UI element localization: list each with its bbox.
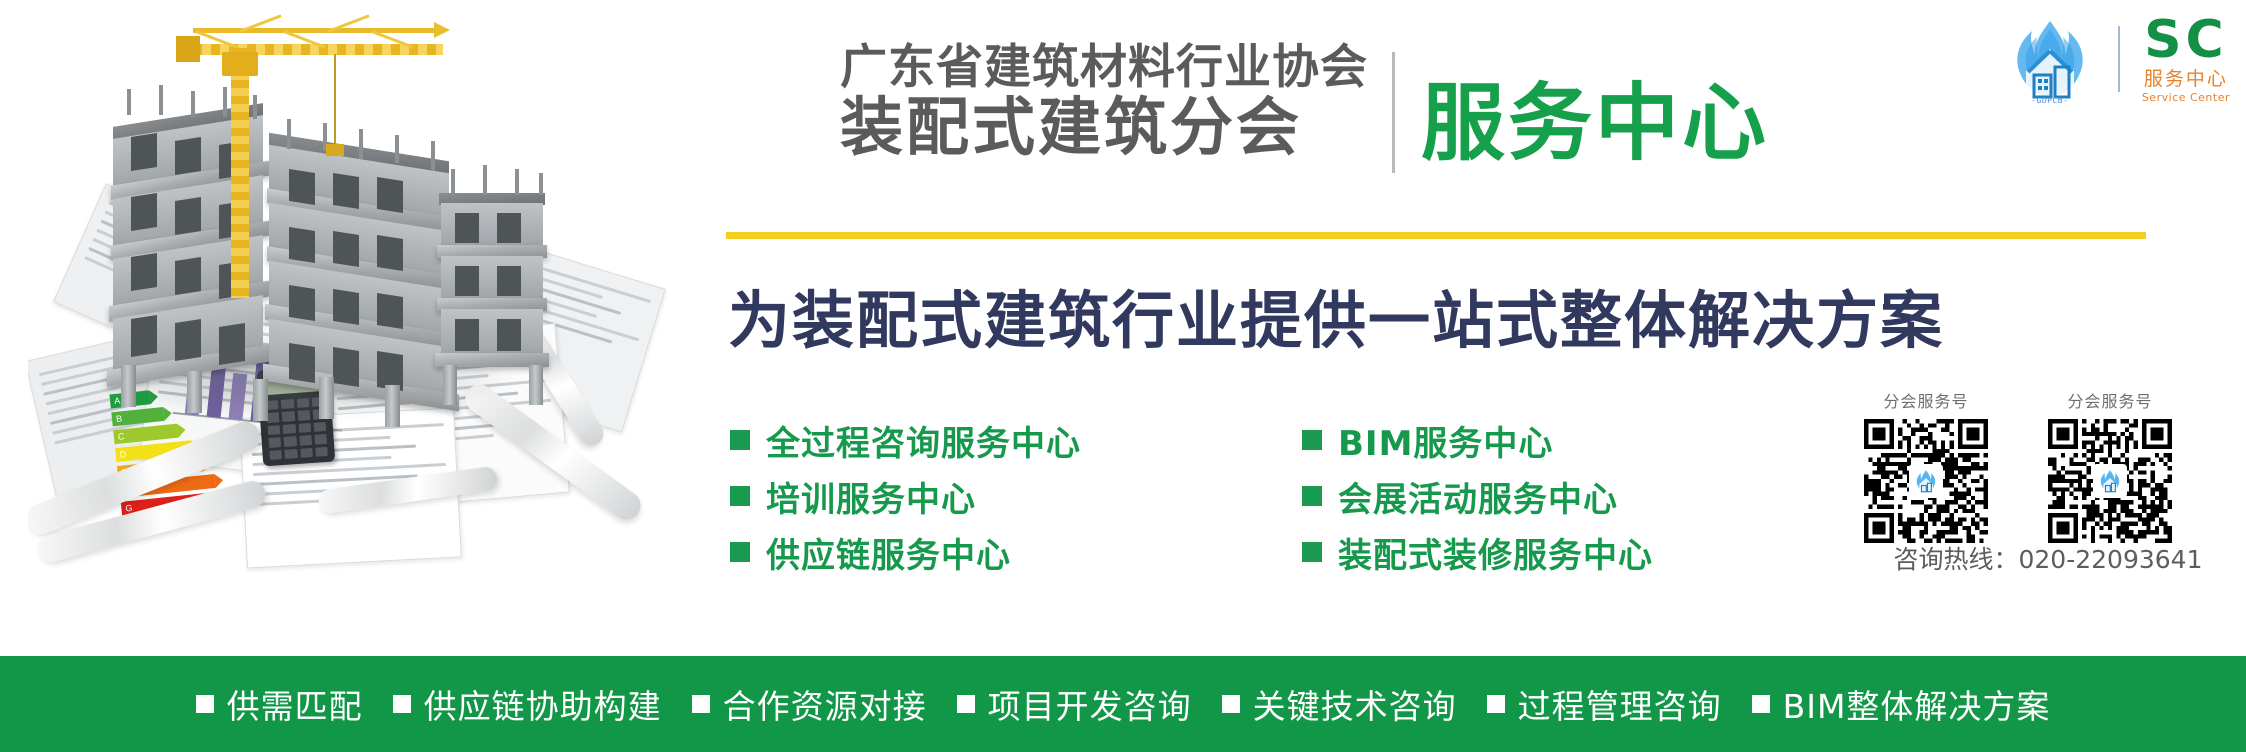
footer-item[interactable]: 供需匹配 — [196, 680, 363, 728]
square-bullet-icon — [730, 486, 750, 506]
qr-code-cell[interactable]: 分会服务号 — [2037, 388, 2183, 543]
flame-house-logo-svg — [1913, 468, 1939, 494]
qr-label: 分会服务号 — [1853, 388, 1999, 412]
square-bullet-icon — [1487, 695, 1505, 713]
footer-label: 供应链协助构建 — [424, 680, 662, 728]
service-list-left: 全过程咨询服务中心 培训服务中心 供应链服务中心 — [730, 412, 1081, 580]
flame-house-logo-svg — [2097, 468, 2123, 494]
organization-name: 广东省建筑材料行业协会 装配式建筑分会 — [840, 44, 1368, 159]
square-bullet-icon — [1302, 542, 1322, 562]
flame-house-logo-svg — [2004, 15, 2096, 103]
logo-abbr: SC — [2144, 14, 2228, 66]
square-bullet-icon — [1222, 695, 1240, 713]
square-bullet-icon — [1752, 695, 1770, 713]
logo-cn-name: 服务中心 — [2144, 70, 2228, 89]
org-line-2: 装配式建筑分会 — [840, 96, 1368, 159]
footer-label: BIM整体解决方案 — [1783, 680, 2051, 728]
org-line-1: 广东省建筑材料行业协会 — [840, 44, 1368, 91]
footer-label: 项目开发咨询 — [988, 680, 1192, 728]
service-list-item[interactable]: 供应链服务中心 — [730, 524, 1081, 580]
footer-item[interactable]: 合作资源对接 — [692, 680, 927, 728]
service-list-item[interactable]: BIM服务中心 — [1302, 412, 1653, 468]
logo-divider — [2118, 26, 2120, 92]
qr-code-cell[interactable]: 分会服务号 — [1853, 388, 1999, 543]
footer-label: 过程管理咨询 — [1518, 680, 1722, 728]
footer-label: 供需匹配 — [227, 680, 363, 728]
footer-items: 供需匹配 供应链协助构建 合作资源对接 项目开发咨询 关键技术咨询 过程管理咨询 — [196, 680, 2051, 728]
page-subtitle: 为装配式建筑行业提供一站式整体解决方案 — [728, 270, 1944, 360]
service-label: 供应链服务中心 — [766, 528, 1011, 577]
square-bullet-icon — [692, 695, 710, 713]
hotline-text: 咨询热线：020-22093641 — [1853, 540, 2243, 576]
square-bullet-icon — [730, 430, 750, 450]
square-bullet-icon — [393, 695, 411, 713]
footer-bar: 供需匹配 供应链协助构建 合作资源对接 项目开发咨询 关键技术咨询 过程管理咨询 — [0, 656, 2246, 752]
service-label: 培训服务中心 — [766, 472, 976, 521]
footer-label: 合作资源对接 — [723, 680, 927, 728]
service-label: 装配式装修服务中心 — [1338, 528, 1653, 577]
qr-code-icon[interactable] — [1864, 419, 1988, 543]
footer-item[interactable]: 供应链协助构建 — [393, 680, 662, 728]
square-bullet-icon — [730, 542, 750, 562]
hero-image: A B C D E F G — [28, 8, 668, 628]
banner-root: A B C D E F G — [0, 0, 2246, 752]
footer-item[interactable]: BIM整体解决方案 — [1752, 680, 2051, 728]
square-bullet-icon — [957, 695, 975, 713]
header-title-block: 广东省建筑材料行业协会 装配式建筑分会 服务中心 — [840, 44, 1769, 177]
logo-wordmark: SC 服务中心 Service Center — [2142, 14, 2230, 103]
footer-item[interactable]: 项目开发咨询 — [957, 680, 1192, 728]
service-list-item[interactable]: 培训服务中心 — [730, 468, 1081, 524]
service-center-heading: 服务中心 — [1421, 56, 1769, 177]
logo-caption: -GDPCB- — [2004, 96, 2096, 105]
service-list-item[interactable]: 全过程咨询服务中心 — [730, 412, 1081, 468]
qr-label: 分会服务号 — [2037, 388, 2183, 412]
tower-crane-icon — [138, 8, 458, 298]
title-divider — [1392, 52, 1395, 173]
square-bullet-icon — [1302, 486, 1322, 506]
flame-house-logo-icon: -GDPCB- — [2004, 15, 2096, 103]
service-label: 全过程咨询服务中心 — [766, 416, 1081, 465]
qr-code-block: 分会服务号 分会服务号 — [1853, 388, 2223, 543]
footer-label: 关键技术咨询 — [1253, 680, 1457, 728]
square-bullet-icon — [1302, 430, 1322, 450]
service-label: BIM服务中心 — [1338, 416, 1553, 465]
qr-center-logo-icon — [2093, 464, 2127, 498]
logo-en-name: Service Center — [2142, 92, 2230, 103]
service-list-item[interactable]: 装配式装修服务中心 — [1302, 524, 1653, 580]
square-bullet-icon — [196, 695, 214, 713]
qr-center-logo-icon — [1909, 464, 1943, 498]
gold-divider-rule — [726, 232, 2146, 239]
service-label: 会展活动服务中心 — [1338, 472, 1618, 521]
qr-code-icon[interactable] — [2048, 419, 2172, 543]
service-list-right: BIM服务中心 会展活动服务中心 装配式装修服务中心 — [1302, 412, 1653, 580]
service-list-item[interactable]: 会展活动服务中心 — [1302, 468, 1653, 524]
brand-logo[interactable]: -GDPCB- SC 服务中心 Service Center — [2004, 14, 2230, 103]
footer-item[interactable]: 过程管理咨询 — [1487, 680, 1722, 728]
footer-item[interactable]: 关键技术咨询 — [1222, 680, 1457, 728]
